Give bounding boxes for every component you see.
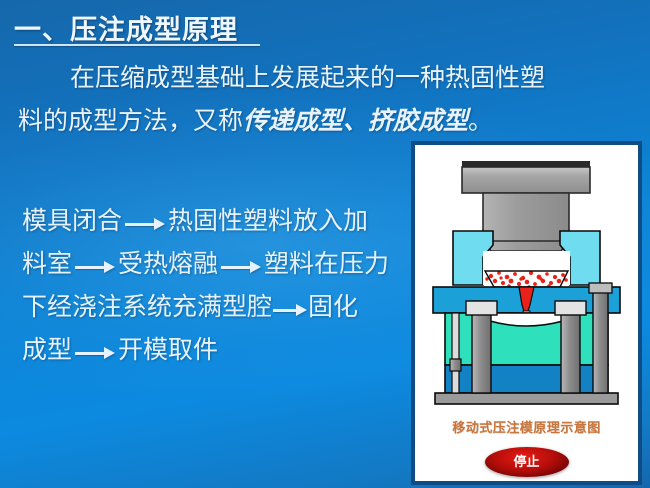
diagram-caption: 移动式压注模原理示意图 — [415, 417, 638, 436]
intro-paragraph: 在压缩成型基础上发展起来的一种热固性塑 料的成型方法，又称传递成型、挤胶成型。 — [18, 57, 640, 143]
flow-step-pressure: 塑料在压力 — [264, 250, 389, 278]
intro-line2-plain-b: 。 — [468, 107, 493, 135]
flow-step-chamber: 料室 — [22, 250, 72, 278]
flow-step-eject: 开模取件 — [118, 336, 218, 364]
flow-step-form: 成型 — [22, 336, 72, 364]
transfer-mold-schematic — [415, 145, 638, 415]
arrow-right-icon — [75, 345, 115, 359]
title-underline — [14, 44, 260, 46]
arrow-right-icon — [75, 259, 115, 273]
process-flow-text: 模具闭合热固性塑料放入加 料室受热熔融塑料在压力 下经浇注系统充满型腔固化 成型… — [22, 200, 414, 372]
flow-line-3: 下经浇注系统充满型腔固化 — [22, 286, 414, 329]
flow-step-mold-close: 模具闭合 — [22, 207, 122, 235]
intro-line2-emphasis: 传递成型、挤胶成型 — [243, 107, 468, 135]
diagram-panel-inner: 移动式压注模原理示意图 停止 — [415, 145, 638, 481]
arrow-right-icon — [273, 302, 307, 316]
diagram-panel: 移动式压注模原理示意图 停止 — [411, 141, 642, 485]
molding-material-granules — [485, 271, 568, 289]
arrow-right-icon — [221, 259, 261, 273]
stop-button[interactable]: 停止 — [485, 447, 569, 477]
slide-canvas: 一、压注成型原理 在压缩成型基础上发展起来的一种热固性塑 料的成型方法，又称传递… — [0, 0, 650, 488]
arrow-right-icon — [125, 216, 165, 230]
flow-step-melt: 受热熔融 — [118, 250, 218, 278]
intro-line2-plain-a: 料的成型方法，又称 — [18, 107, 243, 135]
flow-line-4: 成型开模取件 — [22, 329, 414, 372]
page-title: 一、压注成型原理 — [14, 8, 238, 47]
flow-step-fill-cavity: 下经浇注系统充满型腔 — [22, 293, 272, 321]
flow-step-cure: 固化 — [308, 293, 358, 321]
flow-line-2: 料室受热熔融塑料在压力 — [22, 243, 414, 286]
flow-line-1: 模具闭合热固性塑料放入加 — [22, 200, 414, 243]
intro-line1: 在压缩成型基础上发展起来的一种热固性塑 — [70, 64, 545, 92]
flow-step-material-load: 热固性塑料放入加 — [168, 207, 368, 235]
